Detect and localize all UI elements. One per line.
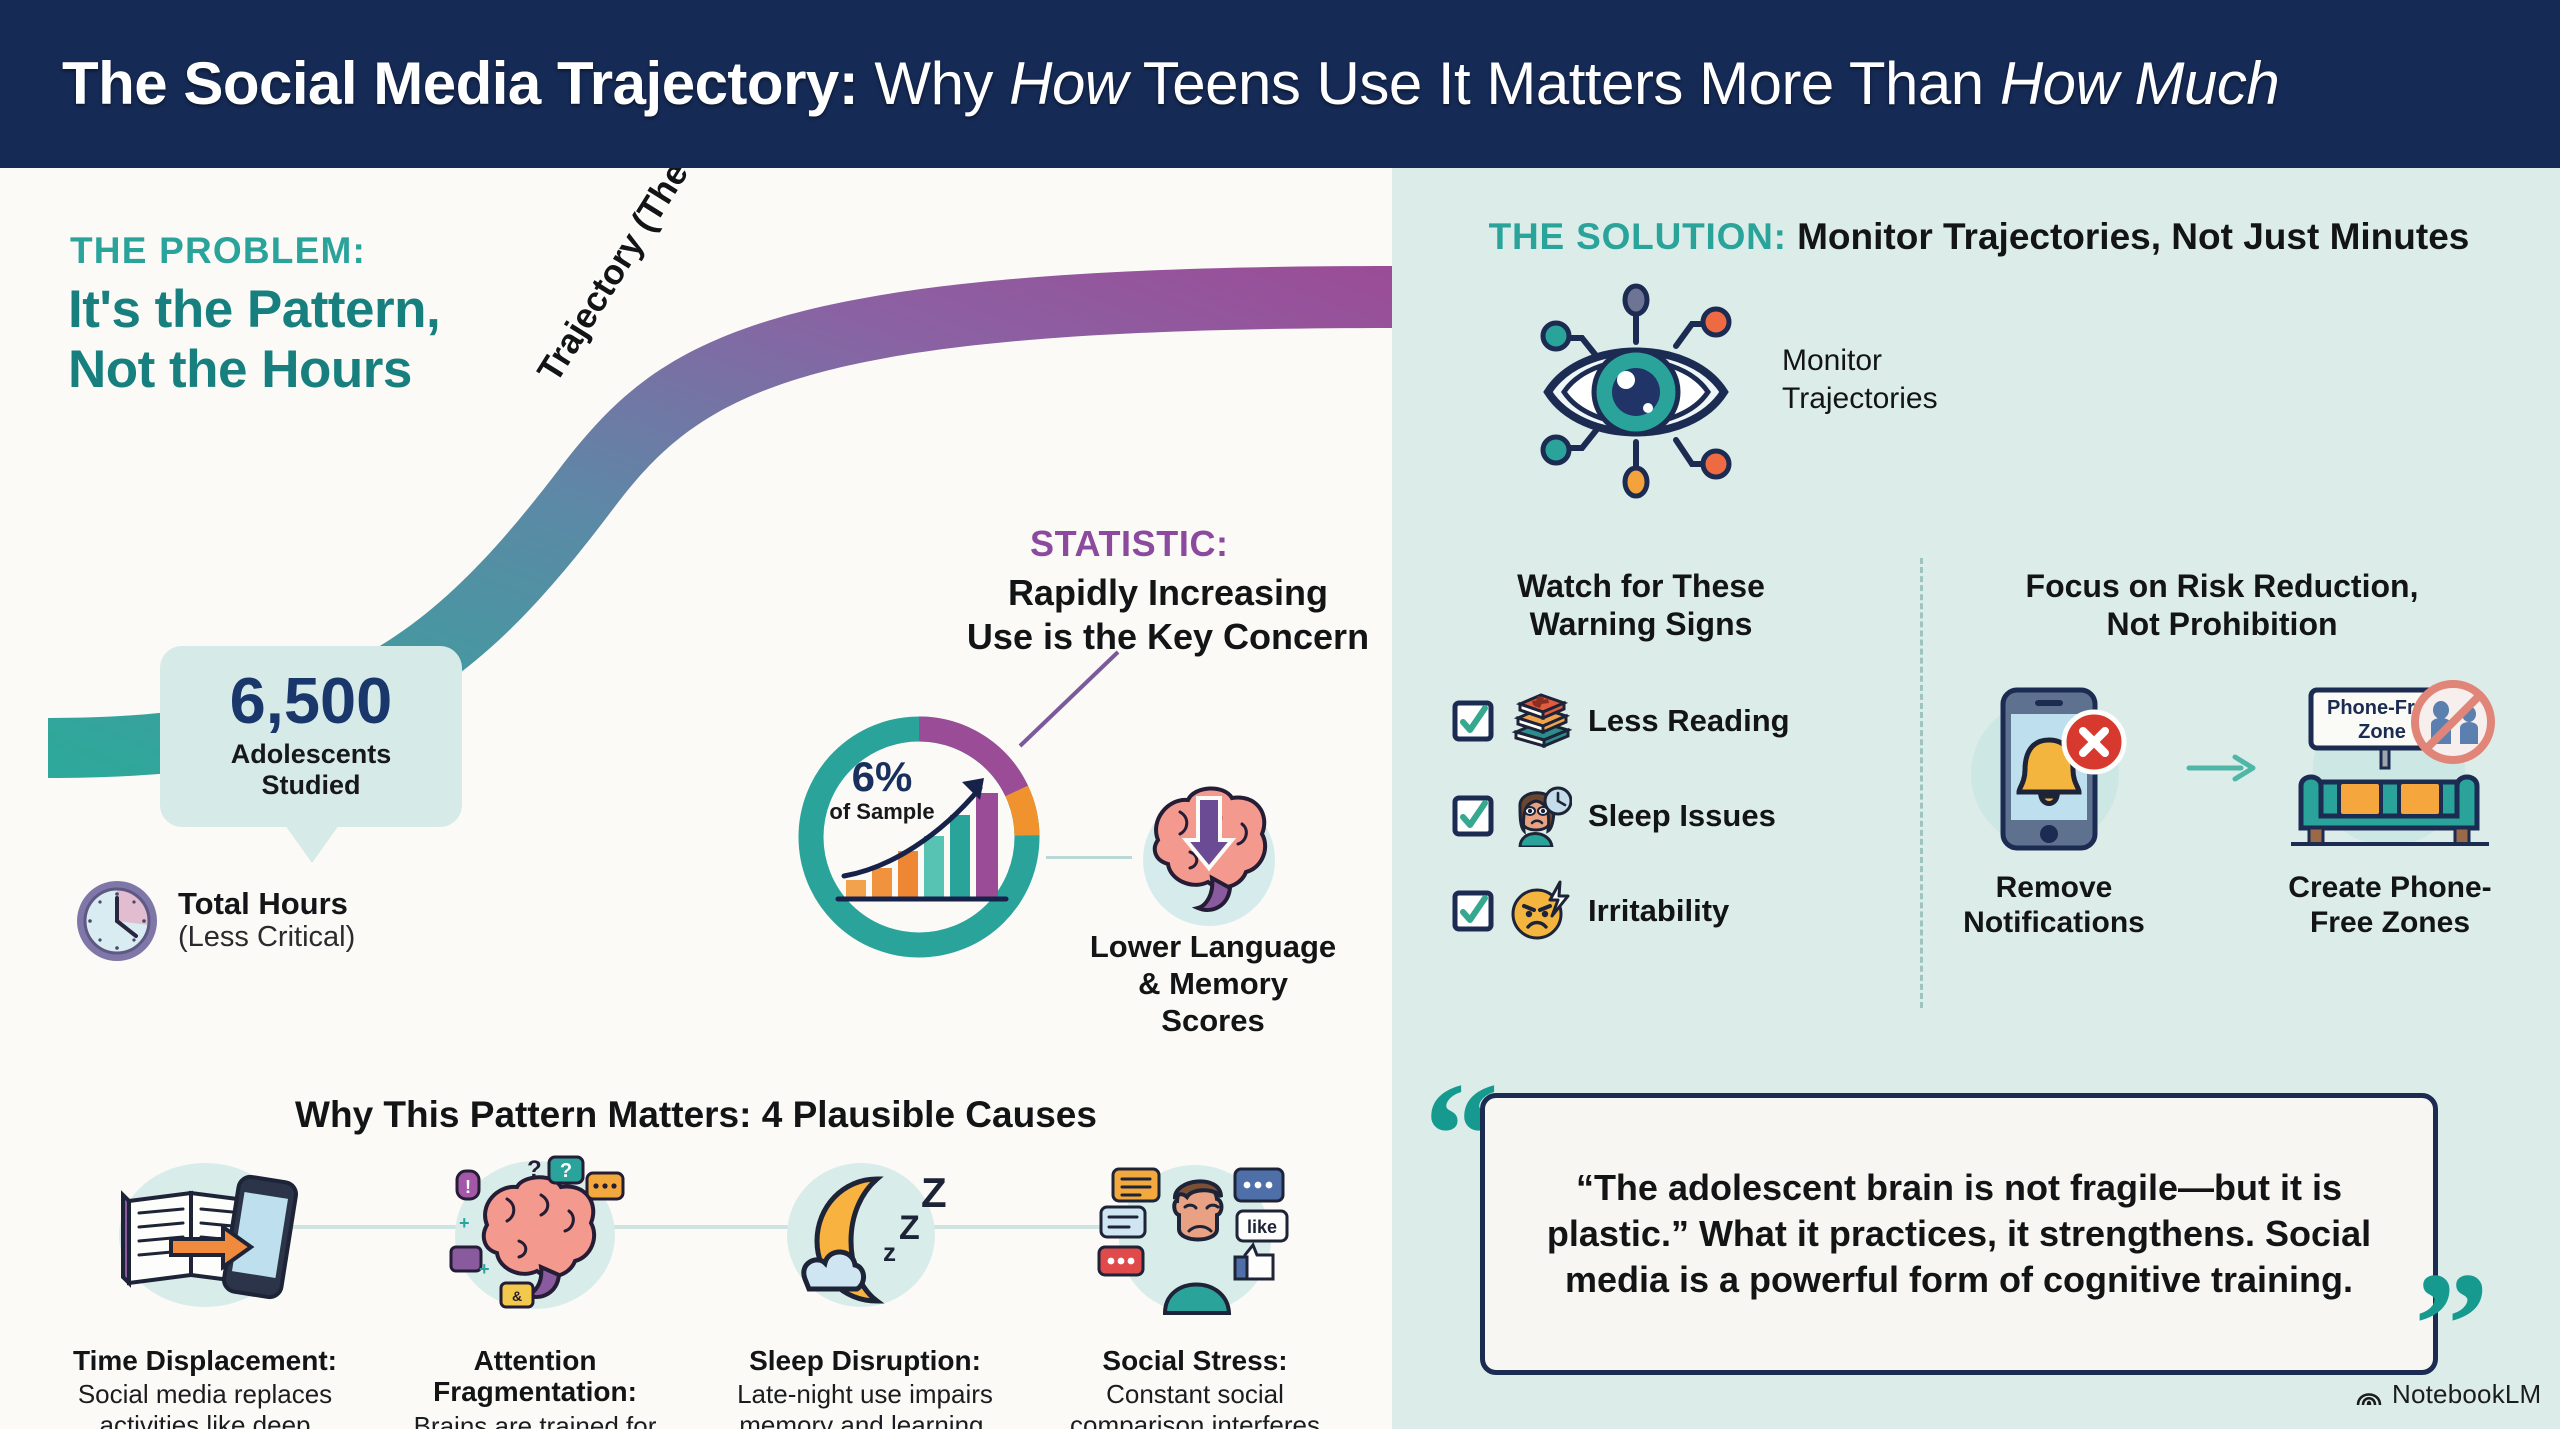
svg-text:z: z [883,1237,896,1267]
risk-transition-arrow [2185,678,2259,858]
watermark-label: NotebookLM [2392,1379,2541,1410]
quote-text: “The adolescent brain is not fragile—but… [1485,1165,2433,1303]
checkbox-checked-icon[interactable] [1452,795,1494,837]
notebooklm-watermark: NotebookLM [2355,1379,2541,1410]
svg-text:&: & [512,1288,522,1304]
cause-body: Constant social comparison interferes wi… [1030,1379,1360,1429]
statistic-heading-line1: Rapidly Increasing [948,571,1388,615]
warning-item-label: Sleep Issues [1588,798,1776,834]
phone-bell-cross-icon [1949,678,2159,858]
page-title-rest-1: Why [858,50,1009,117]
problem-heading-line2: Not the Hours [68,340,440,400]
problem-heading-line1: It's the Pattern, [68,280,440,340]
risk-reduction-row: Remove Notifications [1912,678,2532,941]
risk-item-label-line2: Free Zones [2288,905,2491,940]
donut-percent-label: 6% of Sample [822,756,942,824]
page-title-italic-2: How Much [2000,50,2279,117]
donut-percent-value: 6% [822,756,942,798]
stressed-teen-icon: like [1095,1143,1295,1323]
risk-reduction-heading-line1: Focus on Risk Reduction, [1912,568,2532,606]
fragmented-brain-icon: ? ! & ? + + [435,1143,635,1323]
warning-signs-heading-line2: Warning Signs [1420,606,1862,644]
warning-signs-heading: Watch for These Warning Signs [1420,568,1862,644]
angry-face-bolt-icon [1510,880,1572,942]
svg-text:Z: Z [899,1209,920,1247]
outcome-label: Lower Language & Memory Scores [1088,928,1338,1040]
quote-box: “The adolescent brain is not fragile—but… [1480,1093,2438,1375]
warning-signs-list: Less Reading [1420,690,1862,942]
page-title-rest-2: Teens Use It Matters More Than [1128,50,2000,117]
page-title-bold: The Social Media Trajectory: [62,50,858,117]
cause-title: Time Displacement: [73,1345,337,1376]
checkbox-checked-icon[interactable] [1452,890,1494,932]
quote-close-mark: ” [2414,1250,2489,1400]
risk-item-label-line1: Remove [1963,870,2145,905]
cause-card-attention-fragmentation: ? ! & ? + + Attention Fragmentation: Br [370,1143,700,1429]
header-bar: The Social Media Trajectory: Why How Tee… [0,0,2560,168]
total-hours-row: Total Hours (Less Critical) [74,878,355,964]
warning-signs-column: Watch for These Warning Signs [1420,568,1862,942]
risk-item-label: Create Phone- Free Zones [2288,870,2491,941]
page-title: The Social Media Trajectory: Why How Tee… [0,54,2279,114]
risk-reduction-heading: Focus on Risk Reduction, Not Prohibition [1912,568,2532,644]
cause-card-time-displacement: Time Displacement: Social media replaces… [40,1143,370,1429]
warning-item-sleep-issues[interactable]: Sleep Issues [1420,785,1862,847]
cause-card-social-stress: like Social Stress: Constant social comp… [1030,1143,1360,1429]
solution-kicker: THE SOLUTION: [1489,216,1787,257]
warning-item-irritability[interactable]: Irritability [1420,880,1862,942]
solution-heading: THE SOLUTION: Monitor Trajectories, Not … [1434,216,2524,258]
solution-panel: THE SOLUTION: Monitor Trajectories, Not … [1392,168,2560,1429]
solution-heading-text: Monitor Trajectories, Not Just Minutes [1787,216,2470,257]
cause-title: Social Stress: [1102,1345,1287,1376]
problem-panel: Trajectory (The Key Factor) THE PROBLEM:… [0,168,1392,1429]
causes-title: Why This Pattern Matters: 4 Plausible Ca… [0,1094,1392,1136]
warning-item-less-reading[interactable]: Less Reading [1420,690,1862,752]
outcome-label-line1: Lower Language [1088,928,1338,965]
page-title-italic-1: How [1009,50,1128,117]
risk-reduction-heading-line2: Not Prohibition [1912,606,2532,644]
risk-item-phone-free-zones: Phone-Free Zone [2265,678,2515,941]
book-to-phone-icon [105,1143,305,1323]
sign-text-line2: Zone [2358,721,2406,743]
risk-item-label-line2: Notifications [1963,905,2145,940]
svg-text:!: ! [465,1177,471,1197]
cause-body: Late-night use impairs memory and learni… [700,1379,1030,1429]
svg-text:?: ? [560,1160,572,1182]
total-hours-text: Total Hours (Less Critical) [178,887,355,954]
cause-body: Social media replaces activities like de… [40,1379,370,1429]
donut-percent-sub: of Sample [822,800,942,824]
svg-text:+: + [459,1213,470,1233]
outcome-label-line2: & Memory Scores [1088,965,1338,1039]
tired-girl-clock-icon [1510,785,1572,847]
warning-item-label: Irritability [1588,893,1729,929]
statistic-kicker: STATISTIC: [1030,523,1229,565]
problem-kicker: THE PROBLEM: [70,230,366,272]
sample-size-number: 6,500 [170,668,452,733]
svg-text:+: + [479,1259,490,1279]
risk-item-label: Remove Notifications [1963,870,2145,941]
infographic-page: The Social Media Trajectory: Why How Tee… [0,0,2560,1429]
sample-size-callout: 6,500 Adolescents Studied [160,646,462,827]
svg-text:?: ? [527,1156,542,1183]
cause-card-sleep-disruption: z Z Z Sleep Disruption: Late-night use i… [700,1143,1030,1429]
moon-sleep-icon: z Z Z [765,1143,965,1323]
svg-text:Z: Z [921,1169,947,1216]
causes-row: Time Displacement: Social media replaces… [40,1143,1360,1429]
checkbox-checked-icon[interactable] [1452,700,1494,742]
sample-size-label-line1: Adolescents [170,739,452,770]
monitoring-eye-icon [1520,276,1754,500]
eye-label-line2: Trajectories [1782,380,1938,418]
statistic-leader-line [1010,646,1130,756]
cause-title: Attention Fragmentation: [370,1345,700,1408]
trajectory-label: Trajectory (The Key Factor) [530,168,804,389]
total-hours-main: Total Hours [178,887,355,921]
problem-heading: It's the Pattern, Not the Hours [68,280,440,401]
total-hours-sub: (Less Critical) [178,921,355,954]
warning-signs-heading-line1: Watch for These [1420,568,1862,606]
cause-title: Sleep Disruption: [749,1345,981,1376]
donut-brain-connector [1046,856,1132,859]
cause-body: Brains are trained for rapid switching, … [370,1411,700,1429]
sample-size-label-line2: Studied [170,770,452,801]
risk-reduction-column: Focus on Risk Reduction, Not Prohibition [1912,568,2532,940]
risk-item-remove-notifications: Remove Notifications [1929,678,2179,941]
sample-size-label: Adolescents Studied [170,739,452,801]
books-icon [1510,690,1572,752]
clock-icon [74,878,160,964]
svg-text:like: like [1247,1217,1277,1237]
phone-free-zone-sofa-icon: Phone-Free Zone [2285,678,2495,858]
warning-item-label: Less Reading [1588,703,1790,739]
notebooklm-logo-icon [2355,1383,2383,1407]
brain-decline-icon [1128,768,1290,930]
eye-label: Monitor Trajectories [1782,342,1938,417]
risk-item-label-line1: Create Phone- [2288,870,2491,905]
eye-label-line1: Monitor [1782,342,1938,380]
